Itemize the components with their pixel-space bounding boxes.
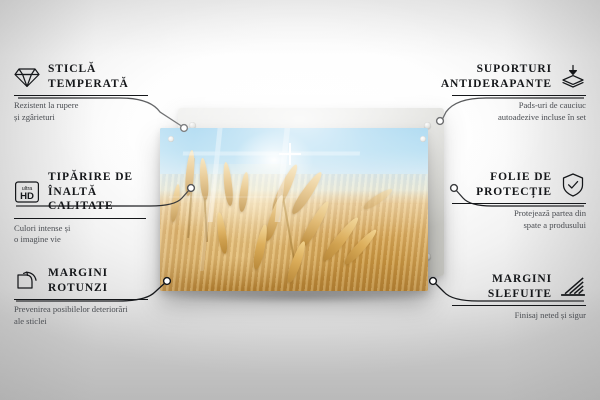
rounded-corner-icon	[14, 269, 40, 293]
feature-subtitle-line1: Prevenirea posibilelor deteriorări	[14, 304, 148, 316]
feature-subtitle-line2: o imagine vie	[14, 234, 146, 246]
feature-subtitle-line1: Pads-uri de cauciuc	[452, 100, 586, 112]
feature-subtitle-line2: și zgârieturi	[14, 112, 148, 124]
feature-title-line2: ANTIDERAPANTE	[441, 77, 552, 92]
divider	[14, 95, 148, 96]
feature-tiparire-inalta-calitate: ultra HD TIPĂRIRE DE ÎNALTĂ CALITATE Cul…	[14, 170, 146, 246]
press-pad-icon	[560, 64, 586, 90]
feature-title-line1: SUPORTURI	[441, 62, 552, 77]
feature-title-line1: FOLIE DE	[476, 170, 552, 185]
glass-panel	[160, 128, 428, 291]
feature-title-line1: STICLĂ	[48, 62, 129, 77]
feature-sticla-temperata: STICLĂ TEMPERATĂ Rezistent la rupere și …	[14, 62, 148, 123]
feature-subtitle-line2: ale sticlei	[14, 316, 148, 328]
screw-icon	[420, 136, 426, 142]
product-infographic: STICLĂ TEMPERATĂ Rezistent la rupere și …	[0, 0, 600, 400]
feature-subtitle-line2: autoadezive incluse în set	[452, 112, 586, 124]
divider	[452, 203, 586, 204]
product-visual	[150, 100, 462, 300]
feature-title-line2: ÎNALTĂ CALITATE	[48, 185, 146, 214]
feature-subtitle-line1: Finisaj neted și sigur	[452, 310, 586, 322]
feature-folie-de-protectie: FOLIE DE PROTECȚIE Protejează partea din…	[452, 170, 586, 231]
divider	[452, 305, 586, 306]
feature-subtitle-line1: Culori intense și	[14, 223, 146, 235]
feature-title-line1: MARGINI	[48, 266, 108, 281]
feature-title-line1: TIPĂRIRE DE	[48, 170, 146, 185]
feature-suporturi-antiderapante: SUPORTURI ANTIDERAPANTE Pads-uri de cauc…	[452, 62, 586, 123]
polished-edge-icon	[560, 276, 586, 298]
feature-subtitle-line1: Protejează partea din	[452, 208, 586, 220]
feature-title-line2: TEMPERATĂ	[48, 77, 129, 92]
feature-subtitle-line2: spate a produsului	[452, 220, 586, 232]
feature-title-line1: MARGINI	[488, 272, 552, 287]
sun-star-icon	[279, 143, 301, 165]
feature-subtitle-line1: Rezistent la rupere	[14, 100, 148, 112]
feature-title-line2: SLEFUITE	[488, 287, 552, 302]
diamond-icon	[14, 66, 40, 88]
feature-title-line2: PROTECȚIE	[476, 185, 552, 200]
divider	[452, 95, 586, 96]
svg-text:HD: HD	[20, 191, 34, 202]
feature-title-line2: ROTUNZI	[48, 281, 108, 296]
shield-check-icon	[560, 172, 586, 198]
divider	[14, 218, 146, 219]
feature-margini-slefuite: MARGINI SLEFUITE Finisaj neted și sigur	[452, 272, 586, 322]
screw-icon	[168, 136, 174, 142]
divider	[14, 299, 148, 300]
feature-margini-rotunzi: MARGINI ROTUNZI Prevenirea posibilelor d…	[14, 266, 148, 327]
ultra-hd-icon: ultra HD	[14, 180, 40, 204]
wheat-field-photo	[160, 128, 428, 291]
